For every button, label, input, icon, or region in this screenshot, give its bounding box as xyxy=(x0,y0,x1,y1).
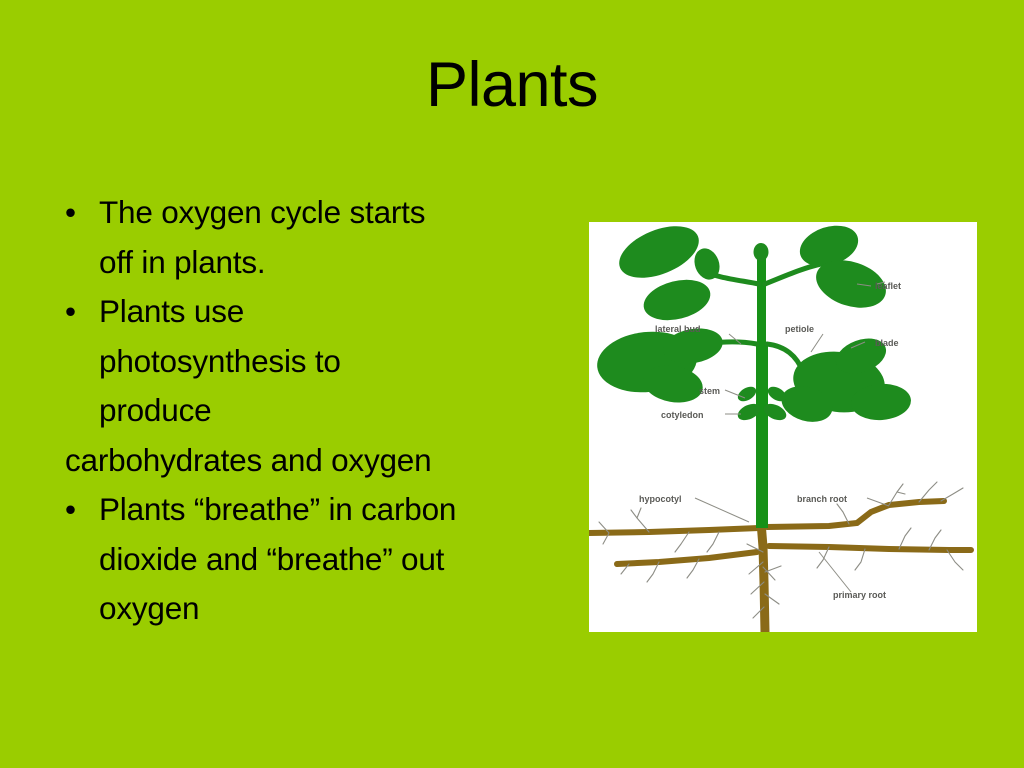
bullet-line-continuation: off in plants. xyxy=(56,238,576,288)
bullet-marker-icon: • xyxy=(65,485,76,535)
figure-label-branch-root: branch root xyxy=(797,494,847,504)
unbulleted-line: carbohydrates and oxygen xyxy=(56,436,576,486)
bullet-line-text: Plants “breathe” in carbon xyxy=(99,491,456,527)
bullet-line-text: Plants use xyxy=(99,293,244,329)
bullet-line-text: photosynthesis to xyxy=(99,343,341,379)
bullet-line-text: produce xyxy=(99,392,211,428)
bullet-line: • The oxygen cycle starts xyxy=(56,188,576,238)
slide-title: Plants xyxy=(0,52,1024,118)
slide-body-text: • The oxygen cycle starts off in plants.… xyxy=(56,188,576,634)
unbulleted-line-text: carbohydrates and oxygen xyxy=(65,442,431,478)
slide: Plants • The oxygen cycle starts off in … xyxy=(0,0,1024,768)
bullet-line: • Plants use xyxy=(56,287,576,337)
figure-label-hypocotyl: hypocotyl xyxy=(639,494,682,504)
plant-anatomy-image: leaflet lateral bud petiole blade stem c… xyxy=(589,222,977,632)
figure-label-cotyledon: cotyledon xyxy=(661,410,704,420)
bullet-line-continuation: photosynthesis to xyxy=(56,337,576,387)
bullet-line-text: off in plants. xyxy=(99,244,265,280)
figure-label-blade: blade xyxy=(875,338,899,348)
bullet-line-text: dioxide and “breathe” out xyxy=(99,541,444,577)
bullet-line-continuation: dioxide and “breathe” out xyxy=(56,535,576,585)
figure-label-leaflet: leaflet xyxy=(875,281,901,291)
bullet-marker-icon: • xyxy=(65,188,76,238)
figure-label-lateral-bud: lateral bud xyxy=(655,324,701,334)
bullet-line-text: The oxygen cycle starts xyxy=(99,194,425,230)
bullet-marker-icon: • xyxy=(65,287,76,337)
bullet-line-continuation: oxygen xyxy=(56,584,576,634)
figure-label-stem: stem xyxy=(699,386,720,396)
figure-label-primary-root: primary root xyxy=(833,590,886,600)
bullet-line-text: oxygen xyxy=(99,590,199,626)
bullet-line: • Plants “breathe” in carbon xyxy=(56,485,576,535)
bullet-line-continuation: produce xyxy=(56,386,576,436)
figure-label-petiole: petiole xyxy=(785,324,814,334)
